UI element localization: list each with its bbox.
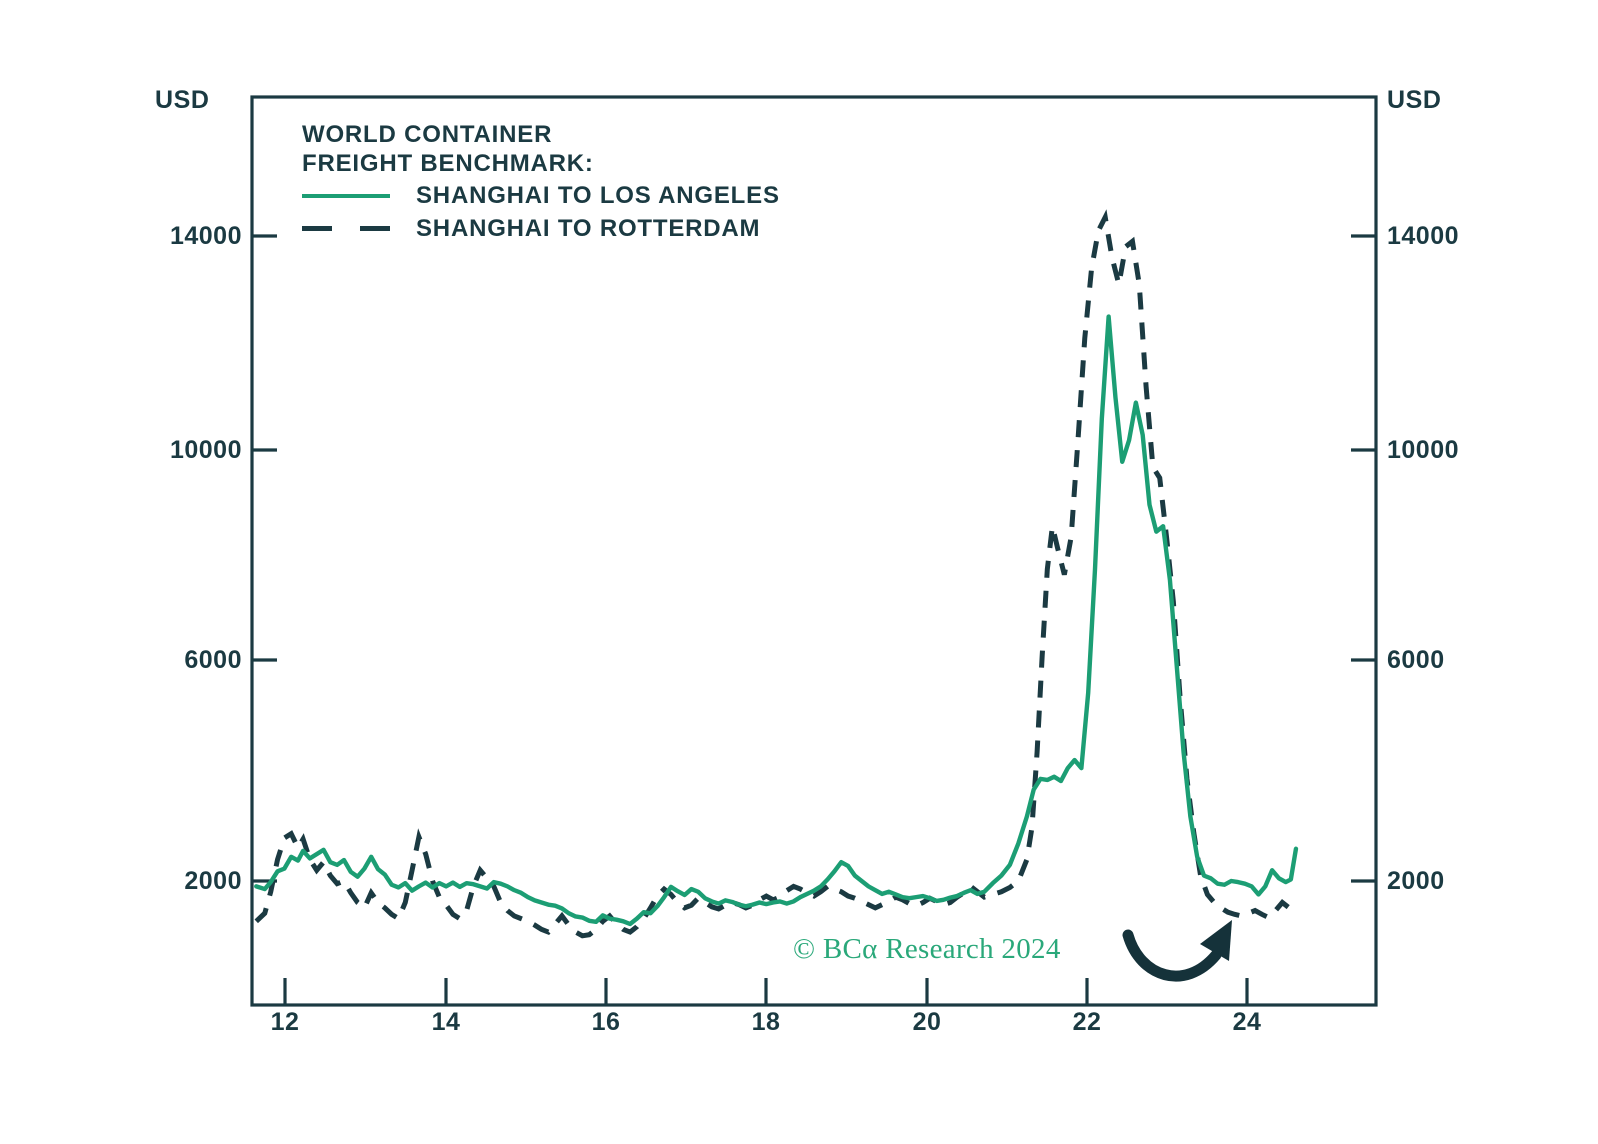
axis-frame — [252, 97, 1376, 1005]
plot-area — [0, 0, 1598, 1144]
upturn-arrow-icon — [1128, 920, 1232, 976]
series-line-shanghai-rotterdam — [256, 217, 1294, 936]
series-line-shanghai-los-angeles — [256, 317, 1296, 924]
chart-container: USD USD 14000 10000 6000 2000 14000 1000… — [0, 0, 1598, 1144]
